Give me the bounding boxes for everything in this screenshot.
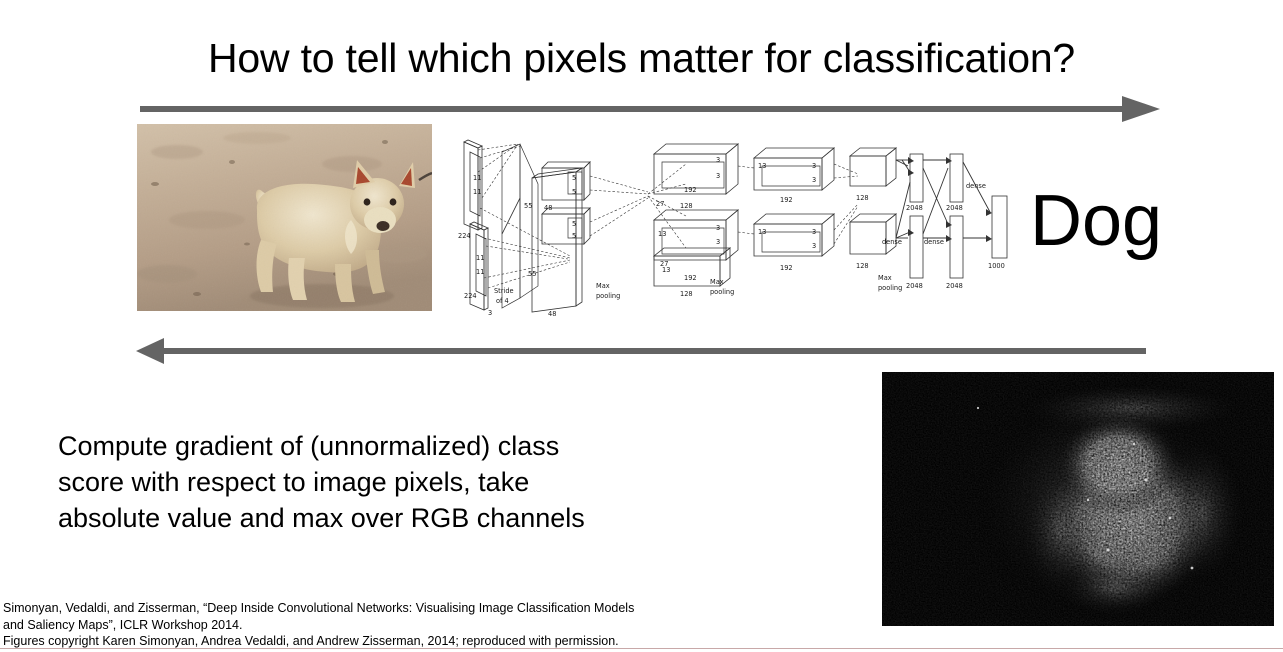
diagram-label-192: 192 [684, 186, 697, 194]
diagram-label-128d: 128 [856, 262, 869, 270]
saliency-map-image [882, 372, 1274, 626]
diagram-label-maxpool3b: pooling [878, 284, 902, 292]
diagram-label-dense1: dense [882, 238, 902, 246]
diagram-label-192d: 192 [780, 264, 793, 272]
diagram-label-stride: Stride [494, 287, 514, 295]
explanation-line-2: score with respect to image pixels, take [58, 464, 618, 500]
saliency-map-graphic [882, 372, 1274, 626]
diagram-label-3a: 3 [716, 156, 720, 164]
diagram-label-maxpool2: Max [710, 278, 724, 286]
diagram-label-dense3: dense [966, 182, 986, 190]
diagram-label-192c: 192 [780, 196, 793, 204]
citation-footnote: Simonyan, Vedaldi, and Zisserman, “Deep … [3, 600, 634, 650]
input-image-dog-photo [137, 124, 432, 311]
diagram-label-2048d: 2048 [946, 282, 963, 290]
diagram-label-2048c: 2048 [946, 204, 963, 212]
diagram-label-48: 48 [544, 204, 552, 212]
diagram-label-3f: 3 [812, 176, 816, 184]
diagram-label-dense2: dense [924, 238, 944, 246]
diagram-label-3b: 3 [716, 172, 720, 180]
diagram-label-13b: 13 [662, 266, 670, 274]
diagram-label-5c: 5 [572, 220, 576, 228]
diagram-label-maxpool1b: pooling [596, 292, 620, 300]
backward-pass-arrow [136, 336, 1150, 366]
diagram-label-maxpool2b: pooling [710, 288, 734, 296]
citation-line-2: and Saliency Maps”, ICLR Workshop 2014. [3, 617, 634, 634]
diagram-label-5b: 5 [572, 188, 576, 196]
diagram-label-48b: 48 [548, 310, 556, 318]
forward-pass-arrow [136, 94, 1166, 124]
predicted-class-label: Dog [1030, 183, 1162, 259]
explanation-line-1: Compute gradient of (unnormalized) class [58, 428, 618, 464]
diagram-label-2048: 2048 [906, 204, 923, 212]
diagram-label-3: 3 [488, 309, 492, 317]
diagram-label-128b: 128 [680, 290, 693, 298]
citation-line-1: Simonyan, Vedaldi, and Zisserman, “Deep … [3, 600, 634, 617]
diagram-label-3h: 3 [812, 242, 816, 250]
diagram-label-11d: 11 [476, 268, 484, 276]
diagram-label-2048b: 2048 [906, 282, 923, 290]
cnn-architecture-diagram: 224 224 11 11 11 11 Stride of 4 3 55 55 … [458, 138, 1018, 318]
explanation-line-3: absolute value and max over RGB channels [58, 500, 618, 536]
diagram-label-3d: 3 [716, 238, 720, 246]
diagram-label-128: 128 [680, 202, 693, 210]
diagram-label-224b: 224 [464, 292, 477, 300]
diagram-label-55: 55 [524, 202, 532, 210]
bottom-divider [0, 648, 1283, 649]
diagram-label-maxpool3: Max [878, 274, 892, 282]
diagram-label-5: 5 [572, 174, 576, 182]
diagram-label-3e: 3 [812, 162, 816, 170]
diagram-label-13d: 13 [758, 228, 766, 236]
diagram-label-224: 224 [458, 232, 471, 240]
diagram-label-55b: 55 [528, 270, 536, 278]
diagram-label-stride-of4: of 4 [496, 297, 509, 305]
diagram-label-11c: 11 [476, 254, 484, 262]
diagram-label-1000: 1000 [988, 262, 1005, 270]
diagram-label-3g: 3 [812, 228, 816, 236]
dog-photo-graphic [137, 124, 432, 311]
slide-canvas: How to tell which pixels matter for clas… [0, 0, 1283, 652]
diagram-label-13: 13 [658, 230, 666, 238]
page-title: How to tell which pixels matter for clas… [0, 34, 1283, 82]
diagram-label-5d: 5 [572, 232, 576, 240]
diagram-label-11: 11 [473, 174, 481, 182]
diagram-label-128c: 128 [856, 194, 869, 202]
diagram-label-11b: 11 [473, 188, 481, 196]
diagram-label-192b: 192 [684, 274, 697, 282]
diagram-label-maxpool1: Max [596, 282, 610, 290]
diagram-label-3c: 3 [716, 224, 720, 232]
cnn-diagram-graphic: 224 224 11 11 11 11 Stride of 4 3 55 55 … [458, 138, 1018, 318]
diagram-label-27: 27 [656, 200, 664, 208]
diagram-label-13c: 13 [758, 162, 766, 170]
explanation-text: Compute gradient of (unnormalized) class… [58, 428, 618, 536]
